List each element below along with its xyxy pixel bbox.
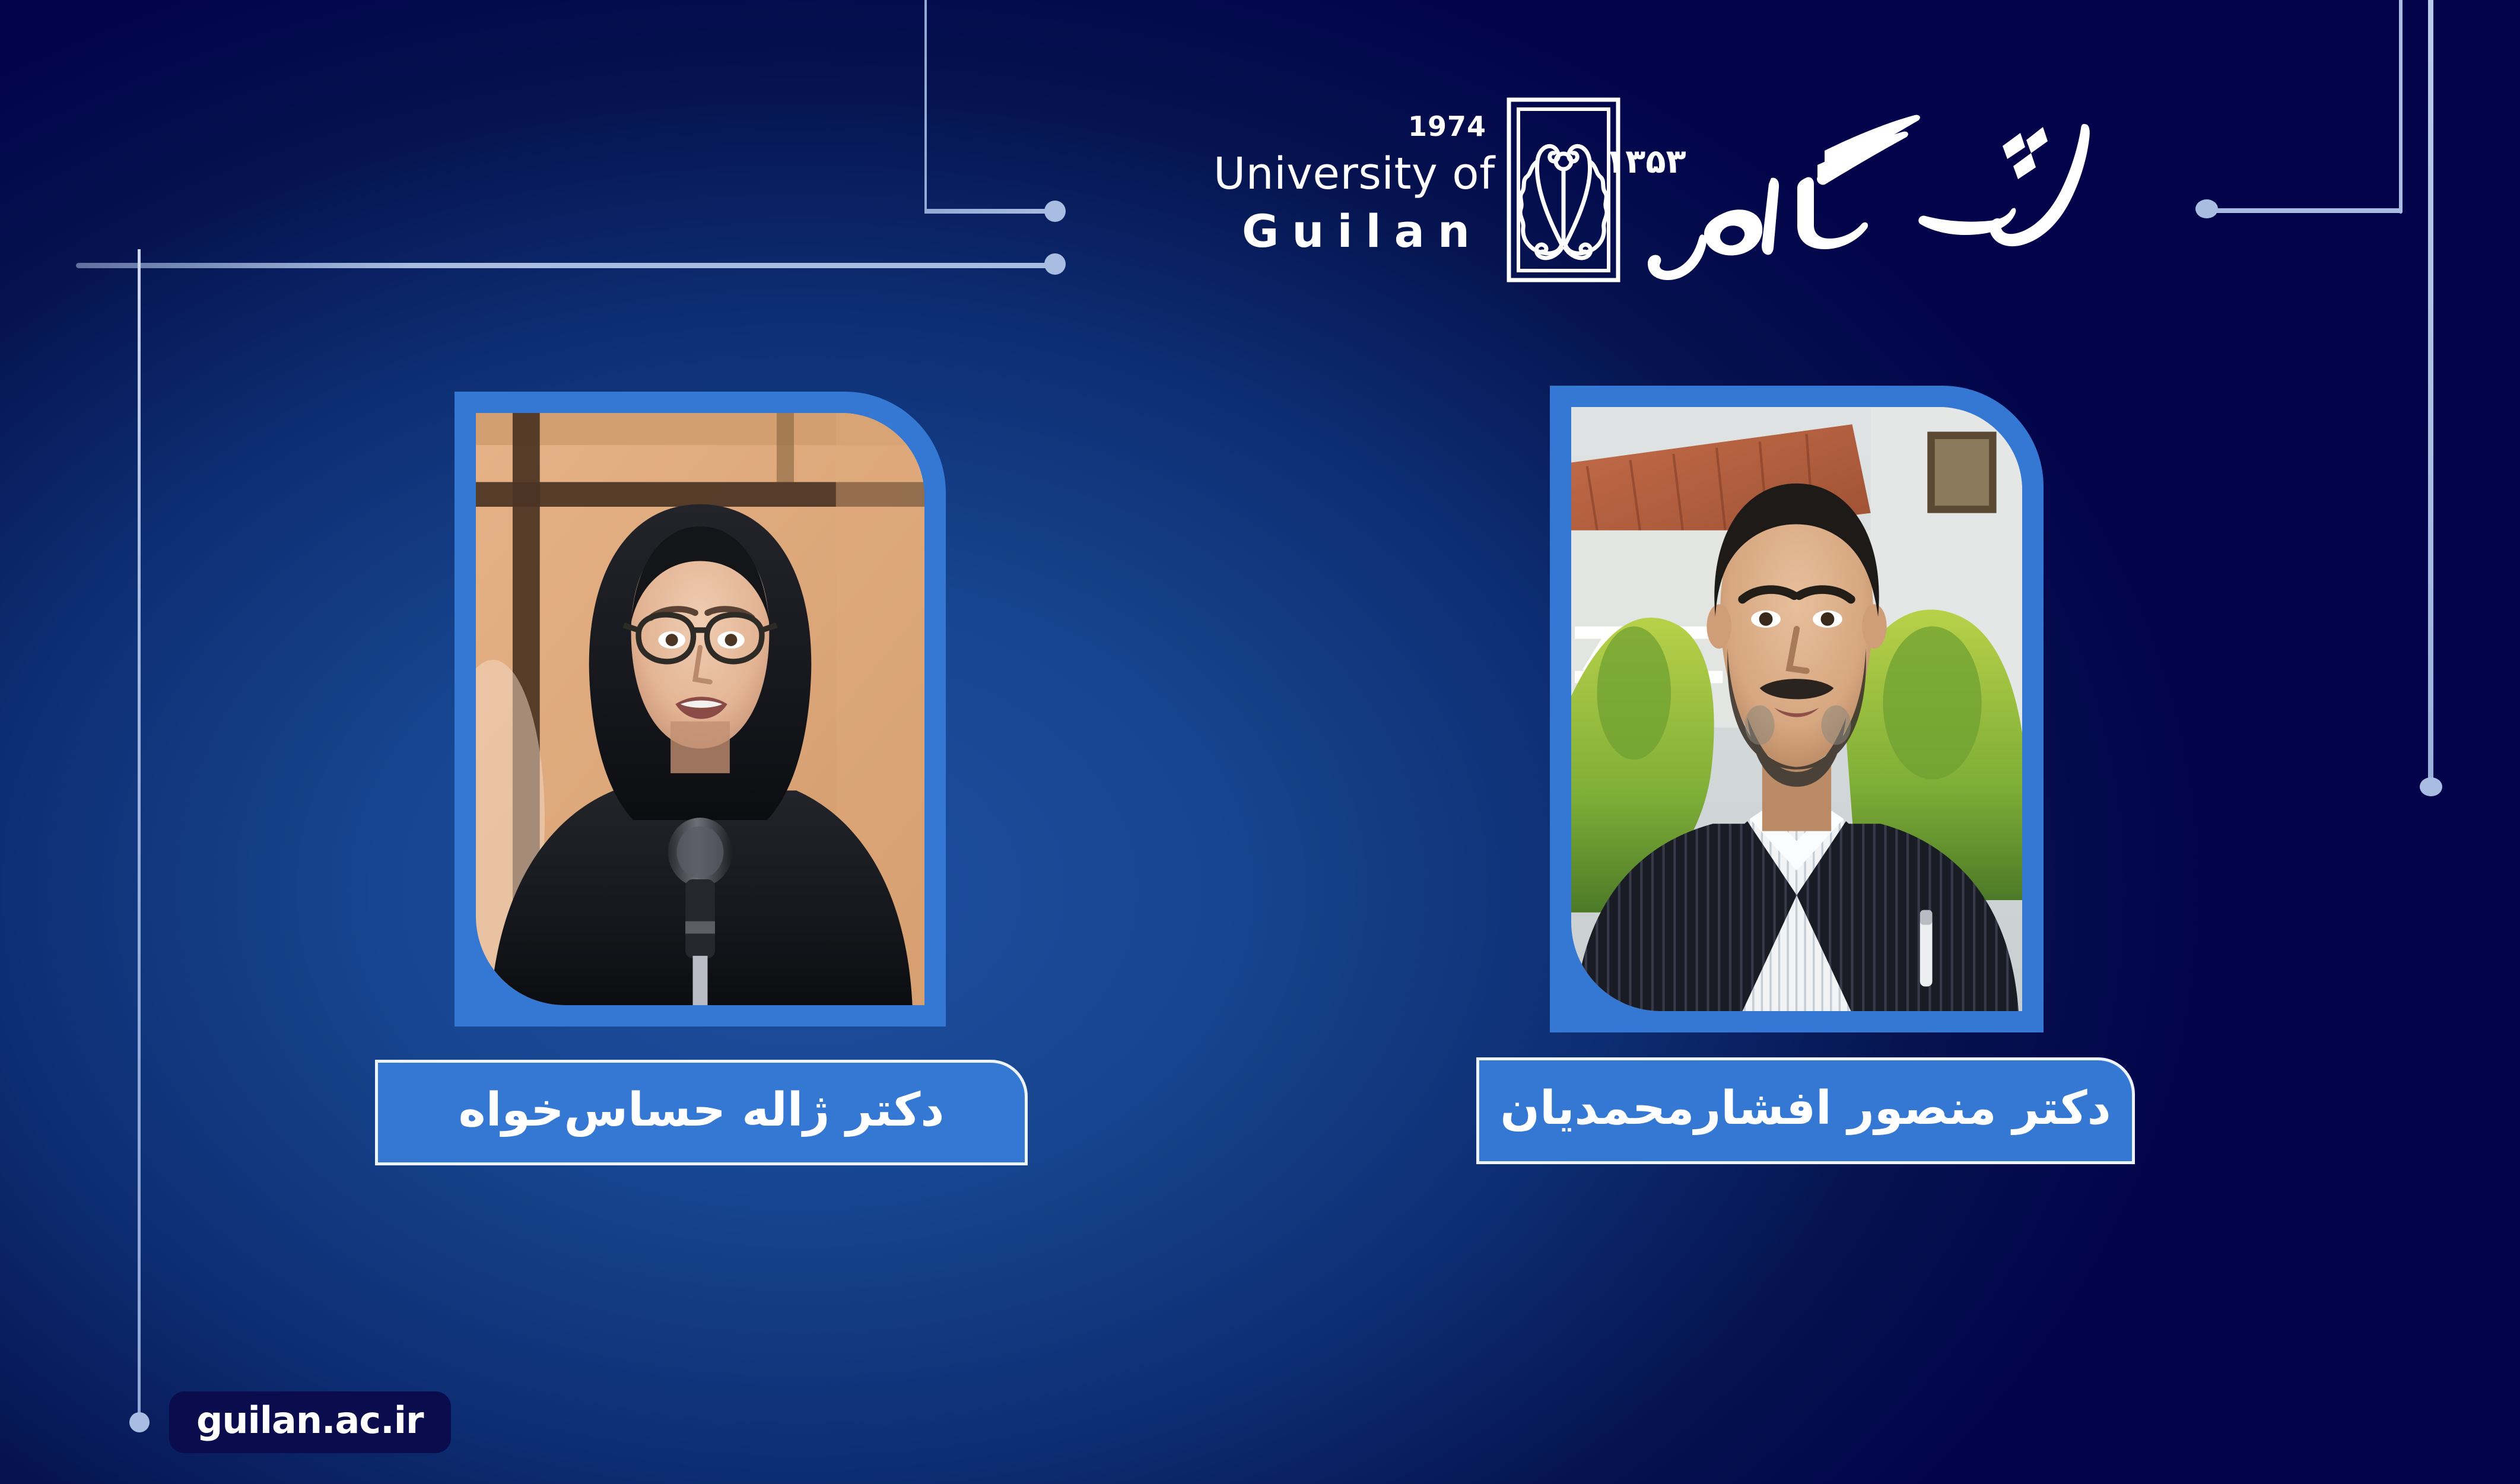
connector-dot-right: [2195, 199, 2218, 218]
speaker-photo-hassaskhah: [476, 413, 924, 1005]
connector-dot-right-lower: [2420, 777, 2442, 796]
speaker-nameplate-hassaskhah: دکتر ژاله حساس‌خواه: [375, 1060, 1028, 1165]
banner-canvas: 1974 University of Guilan: [0, 0, 2520, 1484]
decor-line-horizontal-upper: [924, 209, 1055, 214]
website-url-pill[interactable]: guilan.ac.ir: [169, 1391, 451, 1453]
speaker-name-label: دکتر منصور افشارمحمدیان: [1500, 1085, 2111, 1132]
speaker-nameplate-afsharmohammadian: دکتر منصور افشارمحمدیان: [1476, 1057, 2135, 1164]
speaker-name-label: دکتر ژاله حساس‌خواه: [459, 1087, 945, 1133]
logo-name-fa: [1647, 89, 2098, 285]
decor-line-horizontal-long: [76, 263, 1049, 268]
decor-line-vertical-top-left: [924, 0, 927, 214]
connector-dot-lower-left: [1044, 253, 1066, 275]
speaker-card-hassaskhah: [455, 392, 946, 1027]
butterfly-emblem-icon: [1504, 95, 1623, 285]
decor-line-vertical-left: [138, 249, 141, 1424]
decor-line-vertical-top-right: [2399, 0, 2403, 214]
university-logo: 1974 University of Guilan: [1213, 89, 2098, 285]
logo-name-en-line1: University of: [1213, 148, 1495, 199]
logo-founded-year-gregorian: 1974: [1408, 110, 1486, 142]
connector-dot-upper-left: [1044, 201, 1066, 222]
website-url-text: guilan.ac.ir: [196, 1402, 424, 1439]
decor-line-horizontal-right: [2211, 208, 2403, 213]
speaker-photo-afsharmohammadian: [1571, 407, 2022, 1011]
speaker-card-afsharmohammadian: [1550, 386, 2044, 1032]
decor-line-vertical-right-long: [2428, 0, 2433, 783]
connector-dot-bottom-left: [129, 1412, 150, 1432]
logo-name-en-line2: Guilan: [1242, 205, 1483, 258]
